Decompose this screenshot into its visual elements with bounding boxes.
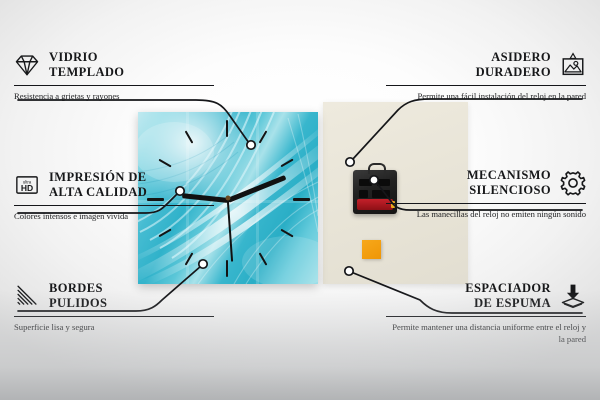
feature-rule — [386, 85, 586, 87]
feature-heading: VIDRIO TEMPLADO — [14, 50, 214, 81]
feature-rule — [14, 316, 214, 318]
mechanism-hanger — [368, 163, 386, 174]
mechanism-slot — [359, 190, 368, 198]
feature-heading: BORDES PULIDOS — [14, 281, 214, 312]
feature-description: Permite una fácil instalación del reloj … — [386, 91, 586, 103]
glass-grid-line — [256, 112, 259, 284]
clock-tick — [293, 198, 310, 201]
feature-heading: ESPACIADOR DE ESPUMA — [386, 281, 586, 312]
feature-espaciador-de-espuma: ESPACIADOR DE ESPUMA Permite mantener un… — [386, 281, 586, 346]
feature-description: Las manecillas del reloj no emiten ningú… — [386, 209, 586, 221]
feature-title: BORDES PULIDOS — [49, 281, 107, 312]
feature-heading: ultra HD IMPRESIÓN DE ALTA CALIDAD — [14, 170, 214, 201]
feature-description: Permite mantener una distancia uniforme … — [386, 322, 586, 346]
gear-icon — [560, 170, 586, 196]
feature-title: ESPACIADOR DE ESPUMA — [465, 281, 551, 312]
feature-title: IMPRESIÓN DE ALTA CALIDAD — [49, 170, 147, 201]
diamond-icon — [14, 52, 40, 78]
feature-heading: ASIDERO DURADERO — [386, 50, 586, 81]
feature-impresion-alta-calidad: ultra HD IMPRESIÓN DE ALTA CALIDAD Color… — [14, 170, 214, 223]
ultra-hd-icon: ultra HD — [14, 172, 40, 198]
feature-bordes-pulidos: BORDES PULIDOS Superficie lisa y segura — [14, 281, 214, 334]
feature-rule — [386, 203, 586, 205]
feature-rule — [14, 205, 214, 207]
hd-label: HD — [21, 183, 33, 193]
feature-description: Resistencia a grietas y rayones — [14, 91, 214, 103]
foam-spacer-sample — [362, 240, 381, 259]
clock-center-hub — [226, 196, 231, 201]
feature-rule — [386, 316, 586, 318]
feature-asidero-duradero: ASIDERO DURADERO Permite una fácil insta… — [386, 50, 586, 103]
picture-hanger-icon — [560, 52, 586, 78]
feature-rule — [14, 85, 214, 87]
feature-title: VIDRIO TEMPLADO — [49, 50, 124, 81]
infographic-canvas: VIDRIO TEMPLADO Resistencia a grietas y … — [0, 0, 600, 400]
feature-description: Superficie lisa y segura — [14, 322, 214, 334]
feature-description: Colores intensos e imagen vívida — [14, 211, 214, 223]
mechanism-slot — [359, 179, 372, 186]
feature-title: ASIDERO DURADERO — [476, 50, 551, 81]
polished-edge-icon — [14, 283, 40, 309]
feature-mecanismo-silencioso: MECANISMO SILENCIOSO Las manecillas del … — [386, 168, 586, 221]
feature-heading: MECANISMO SILENCIOSO — [386, 168, 586, 199]
feature-title: MECANISMO SILENCIOSO — [467, 168, 551, 199]
foam-spacer-icon — [560, 283, 586, 309]
feature-vidrio-templado: VIDRIO TEMPLADO Resistencia a grietas y … — [14, 50, 214, 103]
